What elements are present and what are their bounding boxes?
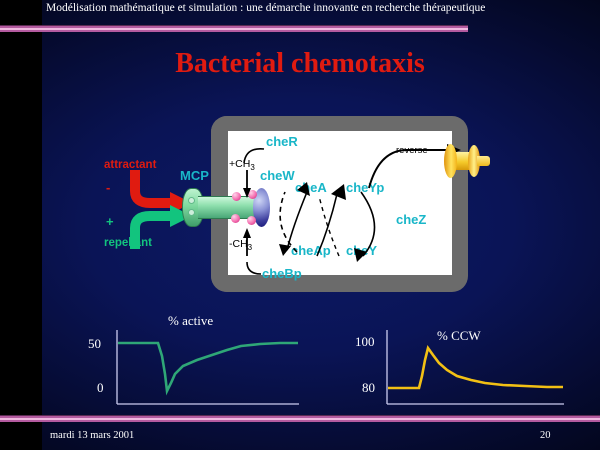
repellant-arrow-icon <box>135 216 172 249</box>
chart-percent-active <box>115 330 300 410</box>
mcp-receptor-label: MCP <box>180 168 209 183</box>
chart-active-title: % active <box>168 313 213 329</box>
slide-header-text: Modélisation mathématique et simulation … <box>46 2 586 14</box>
cheR-arrow-icon <box>244 149 264 163</box>
chart-percent-ccw <box>385 330 565 410</box>
chart-active-ytick-50: 50 <box>88 336 101 352</box>
chart-ccw-series-line <box>388 348 563 388</box>
attractant-sign: - <box>106 180 110 195</box>
pathway-arrows-group <box>211 116 491 296</box>
footer-date: mardi 13 mars 2001 <box>50 430 134 441</box>
cheBp-arrow-icon <box>247 262 261 274</box>
header-divider-rule <box>0 25 468 32</box>
slide-canvas: Modélisation mathématique et simulation … <box>0 0 600 450</box>
repellant-sign: + <box>106 214 114 229</box>
reverse-rotation-label: reverse <box>396 145 428 156</box>
footer-page-number: 20 <box>540 430 551 441</box>
page-title: Bacterial chemotaxis <box>0 48 600 80</box>
chart-ccw-ytick-80: 80 <box>362 380 375 396</box>
chart-active-series-line <box>118 343 298 391</box>
cheA-to-cheAp-arrow-icon <box>287 192 307 250</box>
chart-active-ytick-0: 0 <box>97 380 104 396</box>
footer-divider-rule <box>0 415 600 422</box>
cheYp-to-cheY-arrow-icon <box>361 192 375 256</box>
attractant-arrow-icon <box>135 170 172 203</box>
chart-ccw-ytick-100: 100 <box>355 334 375 350</box>
flagellar-motor-icon <box>444 144 490 178</box>
